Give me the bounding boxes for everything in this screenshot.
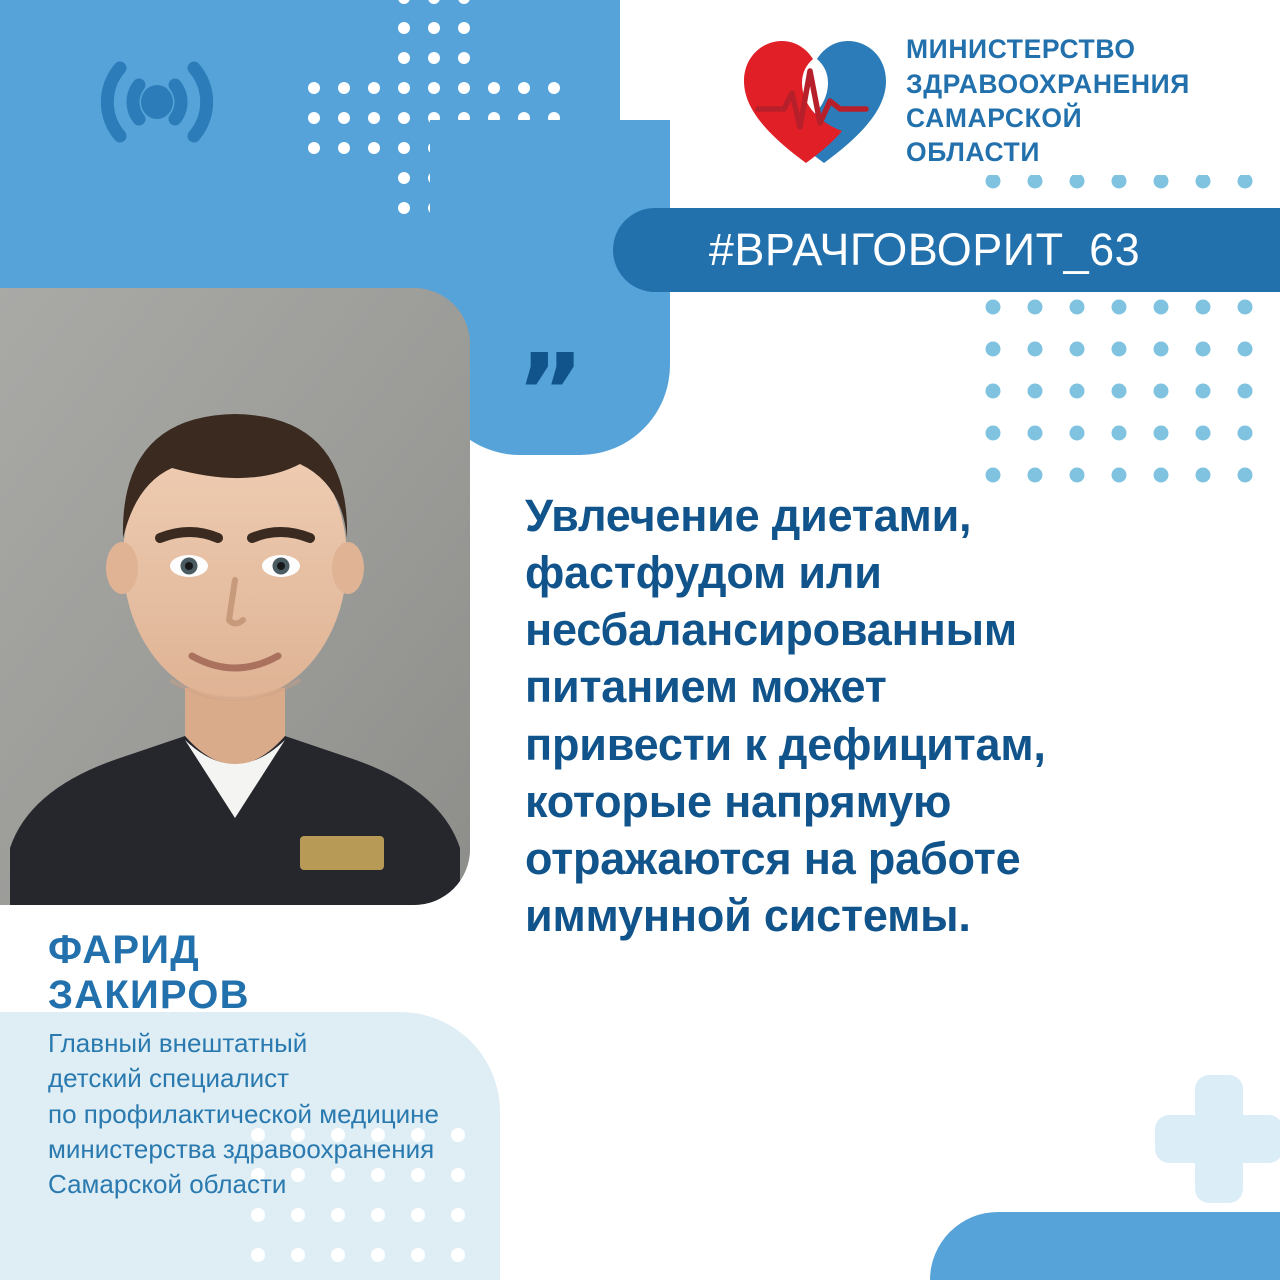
doctor-title: Главный внештатный детский специалист по…	[48, 1026, 608, 1203]
ministry-logo-text: МИНИСТЕРСТВО ЗДРАВООХРАНЕНИЯ САМАРСКОЙ О…	[906, 32, 1200, 170]
doctor-name: ФАРИД ЗАКИРОВ	[48, 928, 468, 1018]
poster-canvas: МИНИСТЕРСТВО ЗДРАВООХРАНЕНИЯ САМАРСКОЙ О…	[0, 0, 1280, 1280]
quote-mark-icon: ”	[516, 360, 626, 430]
broadcast-icon	[62, 42, 252, 162]
medical-cross-icon	[1155, 1075, 1280, 1205]
hashtag-label: #ВРАЧГОВОРИТ_63	[709, 224, 1140, 276]
heart-ecg-logo-icon	[740, 31, 890, 171]
quote-text: Увлечение диетами, фастфудом или несбала…	[525, 487, 1235, 944]
ministry-logo: МИНИСТЕРСТВО ЗДРАВООХРАНЕНИЯ САМАРСКОЙ О…	[740, 26, 1200, 176]
hashtag-banner: #ВРАЧГОВОРИТ_63	[613, 208, 1280, 292]
doctor-portrait-photo	[0, 288, 470, 905]
bottom-right-accent	[930, 1212, 1280, 1280]
